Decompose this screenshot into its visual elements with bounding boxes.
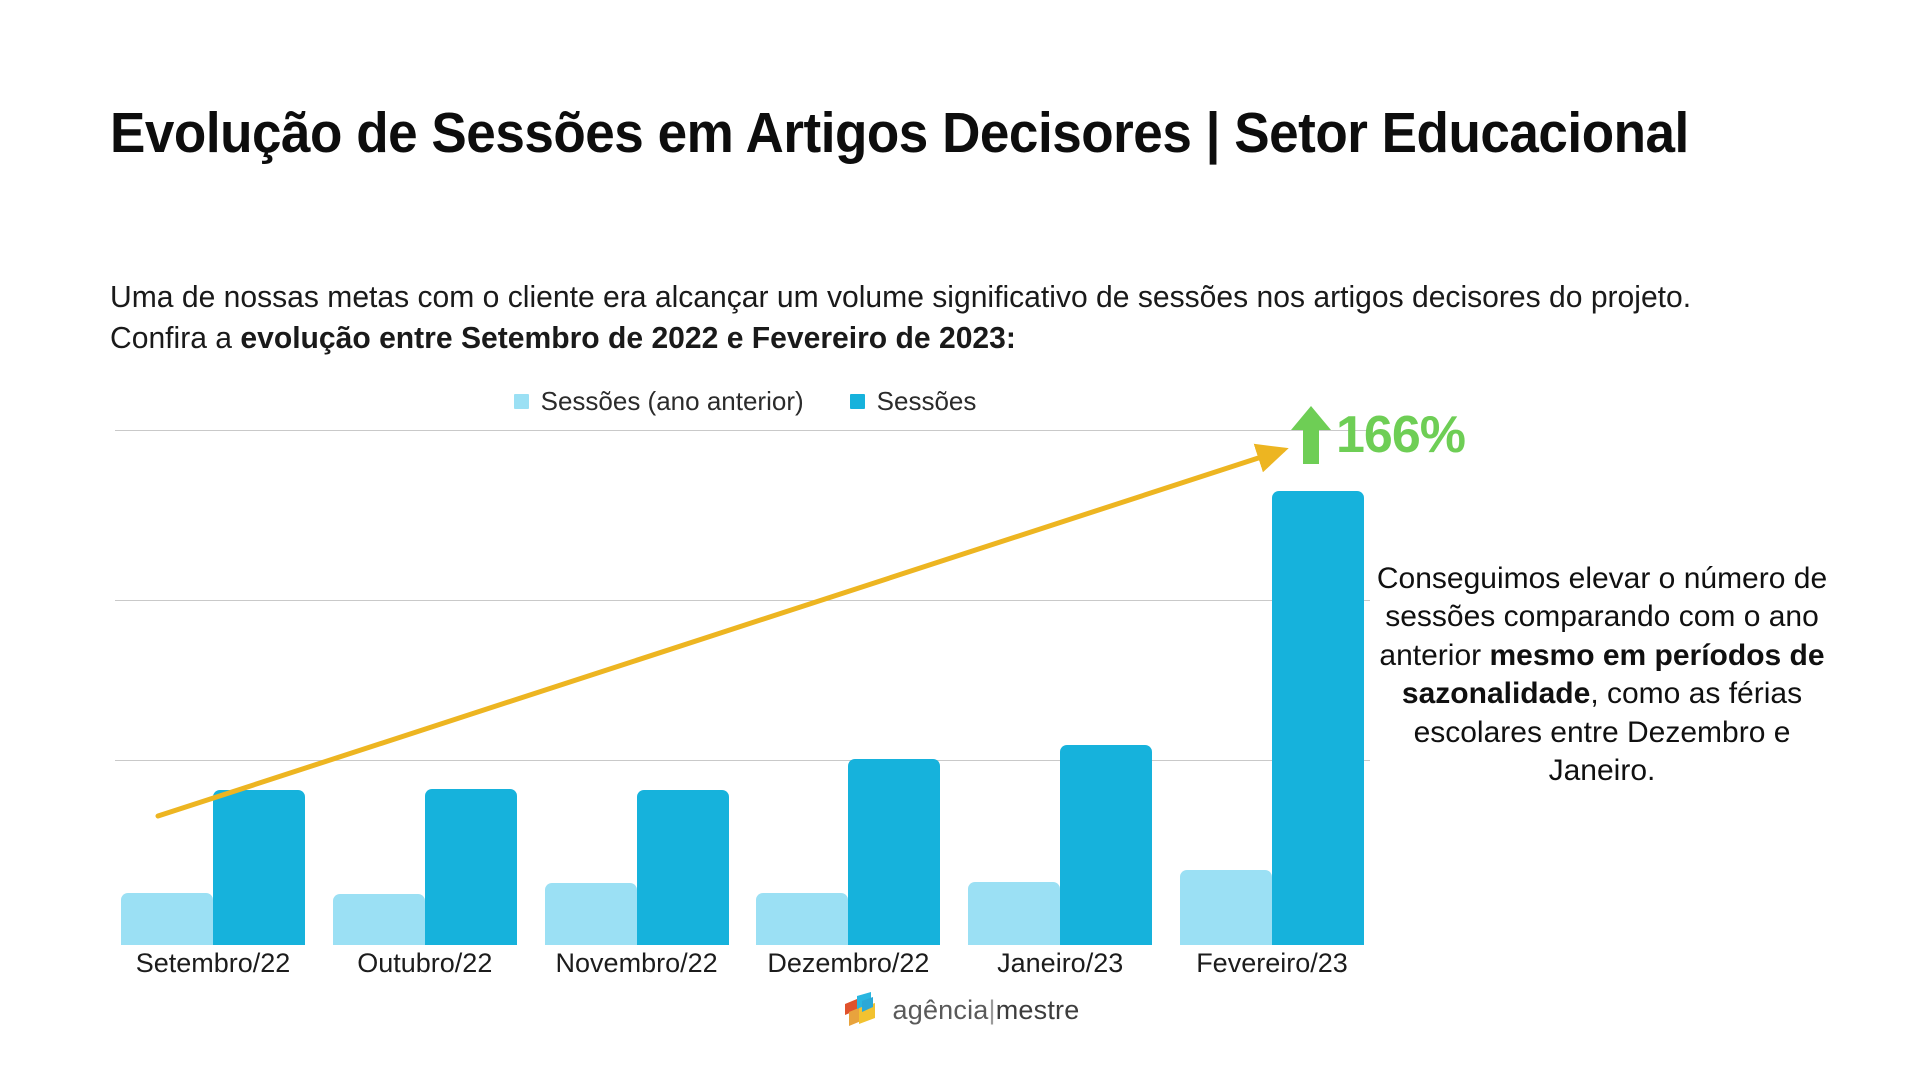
slide-canvas: Evolução de Sessões em Artigos Decisores… — [0, 0, 1920, 1080]
legend-item-previous-year[interactable]: Sessões (ano anterior) — [514, 386, 804, 417]
x-axis-label: Fevereiro/23 — [1174, 948, 1370, 992]
x-axis-label: Dezembro/22 — [750, 948, 946, 992]
bar-group — [539, 790, 735, 945]
bar-group — [1174, 491, 1370, 945]
bar-sessions[interactable] — [213, 790, 305, 945]
bar-group — [327, 789, 523, 945]
bar-group — [115, 790, 311, 945]
arrow-up-icon — [1288, 404, 1334, 466]
x-axis-labels: Setembro/22Outubro/22Novembro/22Dezembro… — [115, 948, 1370, 992]
x-axis-label: Novembro/22 — [539, 948, 735, 992]
brand-logo[interactable]: agência|mestre — [0, 990, 1920, 1030]
agencia-mestre-logo-icon — [841, 990, 883, 1030]
chart-legend: Sessões (ano anterior) Sessões — [115, 386, 1375, 417]
bar-previous-year[interactable] — [1180, 870, 1272, 945]
bar-previous-year[interactable] — [333, 894, 425, 945]
bar-sessions[interactable] — [1272, 491, 1364, 945]
bar-groups — [115, 427, 1370, 945]
growth-badge: 166% — [1288, 404, 1465, 466]
bar-sessions[interactable] — [637, 790, 729, 945]
logo-wordmark: agência|mestre — [893, 995, 1080, 1026]
bar-previous-year[interactable] — [121, 893, 213, 945]
bar-group — [962, 745, 1158, 945]
x-axis-label: Janeiro/23 — [962, 948, 1158, 992]
insight-note: Conseguimos elevar o número de sessões c… — [1368, 560, 1836, 790]
logo-separator: | — [989, 995, 996, 1025]
legend-item-sessions[interactable]: Sessões — [850, 386, 977, 417]
bar-previous-year[interactable] — [756, 893, 848, 945]
logo-name-light: agência — [893, 995, 989, 1025]
bar-group — [750, 759, 946, 945]
legend-label-previous-year: Sessões (ano anterior) — [541, 386, 804, 417]
x-axis-label: Setembro/22 — [115, 948, 311, 992]
subtitle: Uma de nossas metas com o cliente era al… — [110, 277, 1701, 359]
legend-swatch-sessions — [850, 394, 865, 409]
bar-sessions[interactable] — [1060, 745, 1152, 945]
page-title: Evolução de Sessões em Artigos Decisores… — [110, 100, 1719, 167]
logo-name-strong: mestre — [996, 995, 1080, 1025]
subtitle-highlight: evolução entre Setembro de 2022 e Fevere… — [240, 320, 1016, 355]
x-axis-label: Outubro/22 — [327, 948, 523, 992]
bar-sessions[interactable] — [848, 759, 940, 945]
bar-previous-year[interactable] — [545, 883, 637, 945]
growth-percent: 166% — [1336, 409, 1465, 461]
chart-plot-area — [115, 420, 1370, 945]
bar-previous-year[interactable] — [968, 882, 1060, 945]
legend-label-sessions: Sessões — [877, 386, 977, 417]
legend-swatch-previous-year — [514, 394, 529, 409]
bar-sessions[interactable] — [425, 789, 517, 945]
